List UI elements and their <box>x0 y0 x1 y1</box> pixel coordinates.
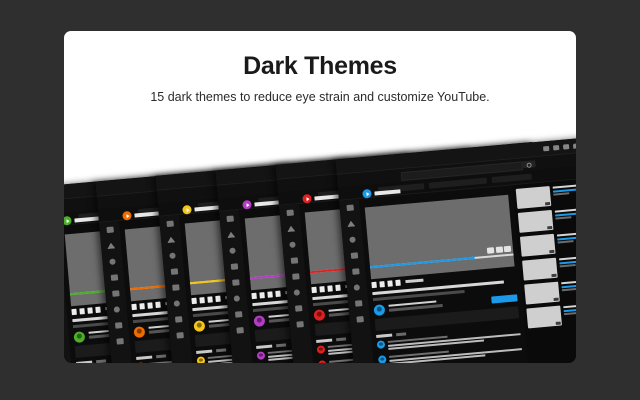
subscriptions-icon[interactable] <box>230 263 238 270</box>
prev-button[interactable] <box>199 297 205 303</box>
volume-button[interactable] <box>335 284 341 290</box>
comment-count <box>316 338 332 342</box>
play-badge-icon <box>64 216 72 226</box>
video-thumbnail <box>516 185 552 208</box>
volume-button[interactable] <box>275 290 281 296</box>
comment-sort-button[interactable] <box>96 359 106 363</box>
settings-icon[interactable] <box>294 305 302 312</box>
recommended-video-views <box>562 288 576 291</box>
video-add-icon[interactable] <box>543 145 549 151</box>
recommended-video-views <box>564 311 576 314</box>
comment-count <box>256 344 272 348</box>
history-icon[interactable] <box>114 306 121 313</box>
brand-logo[interactable] <box>182 202 221 214</box>
volume-button[interactable] <box>215 295 221 301</box>
play-button[interactable] <box>251 292 257 298</box>
recommended-video-meta <box>561 277 576 301</box>
feedback-icon[interactable] <box>356 316 364 323</box>
recommended-video-item[interactable] <box>520 229 576 256</box>
recommended-video-title <box>559 254 576 260</box>
recommended-video-title <box>561 278 576 284</box>
prev-button[interactable] <box>259 291 265 297</box>
theme-gallery <box>64 124 576 363</box>
trending-icon[interactable] <box>349 236 356 243</box>
recommended-video-title <box>563 302 576 308</box>
next-button[interactable] <box>387 279 393 285</box>
prev-button[interactable] <box>139 302 145 308</box>
apps-grid-icon[interactable] <box>553 144 559 150</box>
brand-wordmark <box>134 210 160 216</box>
subscriptions-icon[interactable] <box>110 274 118 281</box>
filter-chip[interactable] <box>492 173 532 183</box>
home-icon[interactable] <box>227 231 236 238</box>
bell-icon[interactable] <box>573 142 576 147</box>
menu-icon[interactable] <box>286 210 294 217</box>
play-badge-icon <box>362 188 372 198</box>
video-thumbnail <box>522 257 558 280</box>
comment-count <box>196 349 212 353</box>
home-icon[interactable] <box>287 225 296 232</box>
play-badge-icon <box>122 210 132 220</box>
history-icon[interactable] <box>234 295 241 302</box>
play-button[interactable] <box>191 297 197 303</box>
channel-avatar[interactable] <box>253 314 265 326</box>
comment-avatar[interactable] <box>378 355 387 363</box>
channel-avatar[interactable] <box>193 320 205 332</box>
brand-wordmark <box>314 194 340 200</box>
play-badge-icon <box>302 194 312 204</box>
feedback-icon[interactable] <box>296 321 304 328</box>
library-icon[interactable] <box>112 290 120 297</box>
subscriptions-icon[interactable] <box>170 268 178 275</box>
promo-card: Dark Themes 15 dark themes to reduce eye… <box>64 31 576 363</box>
recommended-video-meta <box>555 205 576 229</box>
channel-avatar[interactable] <box>373 303 385 315</box>
recommended-video-title <box>555 206 576 212</box>
volume-button[interactable] <box>155 301 161 307</box>
recommended-video-title <box>553 183 576 189</box>
recommended-video-item[interactable] <box>522 253 576 280</box>
library-icon[interactable] <box>352 268 360 275</box>
feedback-icon[interactable] <box>176 332 184 339</box>
recommended-video-item[interactable] <box>526 301 576 328</box>
recommended-video-item[interactable] <box>518 205 576 232</box>
play-badge-icon <box>242 199 252 209</box>
progress-fill <box>370 257 473 268</box>
prev-button[interactable] <box>379 280 385 286</box>
recommended-video-meta <box>563 301 576 325</box>
next-button[interactable] <box>267 290 273 296</box>
next-button[interactable] <box>147 301 153 307</box>
volume-button[interactable] <box>395 279 401 285</box>
recommended-video-views <box>553 192 570 195</box>
video-player[interactable] <box>365 194 515 279</box>
comment-avatar[interactable] <box>257 351 266 360</box>
panel-watch-column <box>359 185 530 363</box>
recommended-video-meta <box>557 229 576 253</box>
page-title: Dark Themes <box>64 52 576 81</box>
video-thumbnail <box>526 305 562 328</box>
page-subtitle: 15 dark themes to reduce eye strain and … <box>64 90 576 104</box>
history-icon[interactable] <box>354 284 361 291</box>
recommended-video-views <box>558 240 575 243</box>
player-overlay-badges <box>487 245 511 253</box>
recommended-video-meta <box>559 253 576 277</box>
settings-icon[interactable] <box>114 322 122 329</box>
menu-icon[interactable] <box>346 204 354 211</box>
recommended-video-item[interactable] <box>516 182 576 209</box>
recommended-video-title <box>557 230 576 236</box>
progress-bar[interactable] <box>370 253 514 267</box>
theme-panel-blue[interactable] <box>335 136 576 363</box>
topbar-icon-group <box>543 140 576 152</box>
menu-icon[interactable] <box>166 221 174 228</box>
recommended-video-meta <box>553 182 576 206</box>
feedback-icon[interactable] <box>236 327 244 334</box>
comment-count <box>376 333 392 337</box>
trending-icon[interactable] <box>109 258 116 265</box>
comment-avatar[interactable] <box>197 356 206 363</box>
play-button[interactable] <box>131 303 137 309</box>
comment-avatar[interactable] <box>377 340 386 349</box>
trending-icon[interactable] <box>229 247 236 254</box>
feedback-icon[interactable] <box>116 338 124 345</box>
comment-count <box>76 360 92 363</box>
brand-wordmark <box>374 188 400 194</box>
brand-wordmark <box>254 199 280 205</box>
settings-icon[interactable] <box>563 143 569 149</box>
menu-icon[interactable] <box>106 226 114 233</box>
trending-icon[interactable] <box>169 252 176 259</box>
channel-avatar[interactable] <box>133 325 145 337</box>
prev-button[interactable] <box>79 308 85 314</box>
comment-sort-button[interactable] <box>156 353 166 357</box>
video-thumbnail <box>524 281 560 304</box>
subscribe-button[interactable] <box>491 293 518 302</box>
recommended-video-views <box>555 216 572 219</box>
library-icon[interactable] <box>232 279 240 286</box>
comment-avatar[interactable] <box>318 360 327 363</box>
settings-icon[interactable] <box>354 300 362 307</box>
library-icon[interactable] <box>292 273 300 280</box>
play-badge-icon <box>182 205 192 215</box>
home-icon[interactable] <box>347 220 356 227</box>
brand-wordmark <box>74 216 100 222</box>
history-icon[interactable] <box>174 300 181 307</box>
comment-avatar[interactable] <box>137 362 146 363</box>
brand-wordmark <box>194 205 220 211</box>
next-button[interactable] <box>207 296 213 302</box>
video-thumbnail <box>520 233 556 256</box>
comment-count <box>136 355 152 359</box>
comment-sort-button[interactable] <box>216 348 226 352</box>
history-icon[interactable] <box>294 289 301 296</box>
play-button[interactable] <box>371 281 377 287</box>
library-icon[interactable] <box>172 284 180 291</box>
volume-button[interactable] <box>95 306 101 312</box>
home-icon[interactable] <box>107 242 116 249</box>
trending-icon[interactable] <box>289 241 296 248</box>
next-button[interactable] <box>327 285 333 291</box>
subscriptions-icon[interactable] <box>290 257 298 264</box>
time-display <box>405 278 423 283</box>
comment-sort-button[interactable] <box>336 337 346 341</box>
player-overlay-badge <box>504 245 512 252</box>
panel-body <box>339 177 576 363</box>
video-thumbnail <box>518 209 554 232</box>
comment-avatar[interactable] <box>317 345 326 354</box>
promo-header: Dark Themes 15 dark themes to reduce eye… <box>64 31 576 104</box>
play-button[interactable] <box>71 308 77 314</box>
player-overlay-badge <box>487 247 495 254</box>
next-button[interactable] <box>87 307 93 313</box>
recommended-video-item[interactable] <box>524 277 576 304</box>
comment-sort-button[interactable] <box>396 331 406 335</box>
brand-logo[interactable] <box>302 191 341 203</box>
settings-icon[interactable] <box>234 311 242 318</box>
brand-logo[interactable] <box>64 213 101 225</box>
progress-playhead[interactable] <box>470 255 475 260</box>
comment-sort-button[interactable] <box>276 342 286 346</box>
channel-avatar[interactable] <box>313 309 325 321</box>
settings-icon[interactable] <box>174 316 182 323</box>
home-icon[interactable] <box>167 236 176 243</box>
channel-avatar[interactable] <box>73 331 85 343</box>
recommended-video-views <box>560 264 576 267</box>
subscriptions-icon[interactable] <box>350 252 358 259</box>
play-button[interactable] <box>311 286 317 292</box>
prev-button[interactable] <box>319 286 325 292</box>
player-overlay-badge <box>495 246 503 253</box>
menu-icon[interactable] <box>226 215 234 222</box>
search-icon[interactable] <box>521 160 536 168</box>
